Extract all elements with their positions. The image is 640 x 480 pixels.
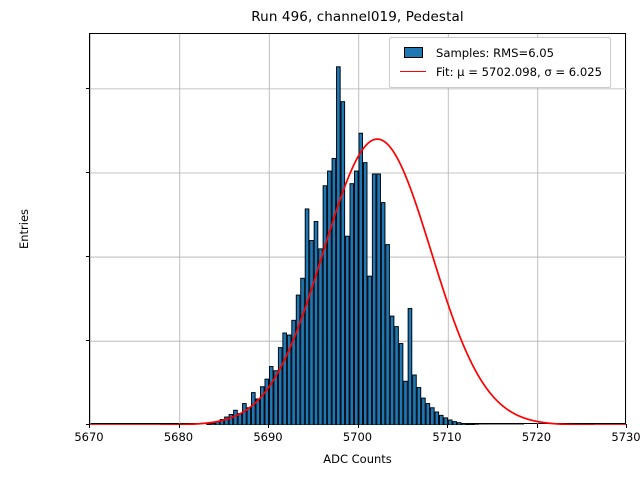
x-tick-mark xyxy=(447,424,448,428)
chart-title: Run 496, channel019, Pedestal xyxy=(89,9,626,25)
x-tick-mark xyxy=(268,424,269,428)
legend-item-samples: Samples: RMS=6.05 xyxy=(398,43,602,62)
y-axis-label-wrap: Entries xyxy=(24,33,38,424)
y-tick-mark xyxy=(86,88,90,89)
legend-item-fit: Fit: μ = 5702.098, σ = 6.025 xyxy=(398,62,602,81)
x-tick-label: 5720 xyxy=(522,430,551,444)
figure: Run 496, channel019, Pedestal Entries 02… xyxy=(0,0,640,480)
x-tick-label: 5670 xyxy=(74,430,103,444)
y-tick-mark xyxy=(86,172,90,173)
histogram-canvas xyxy=(90,34,627,425)
x-tick-mark xyxy=(89,424,90,428)
legend-line-icon xyxy=(398,65,428,79)
x-tick-label: 5690 xyxy=(253,430,282,444)
plot-area xyxy=(89,33,626,424)
x-tick-label: 5680 xyxy=(164,430,193,444)
x-tick-mark xyxy=(179,424,180,428)
x-tick-label: 5710 xyxy=(432,430,461,444)
y-tick-mark xyxy=(86,340,90,341)
legend-label-samples: Samples: RMS=6.05 xyxy=(436,46,554,60)
y-tick-mark xyxy=(86,256,90,257)
legend-patch-icon xyxy=(398,46,428,60)
x-tick-mark xyxy=(358,424,359,428)
legend: Samples: RMS=6.05 Fit: μ = 5702.098, σ =… xyxy=(389,37,611,88)
legend-label-fit: Fit: μ = 5702.098, σ = 6.025 xyxy=(436,65,602,79)
x-tick-mark xyxy=(626,424,627,428)
x-tick-label: 5730 xyxy=(611,430,640,444)
x-tick-mark xyxy=(537,424,538,428)
x-tick-label: 5700 xyxy=(343,430,372,444)
x-axis-label: ADC Counts xyxy=(89,452,626,466)
y-axis-label: Entries xyxy=(17,69,31,389)
